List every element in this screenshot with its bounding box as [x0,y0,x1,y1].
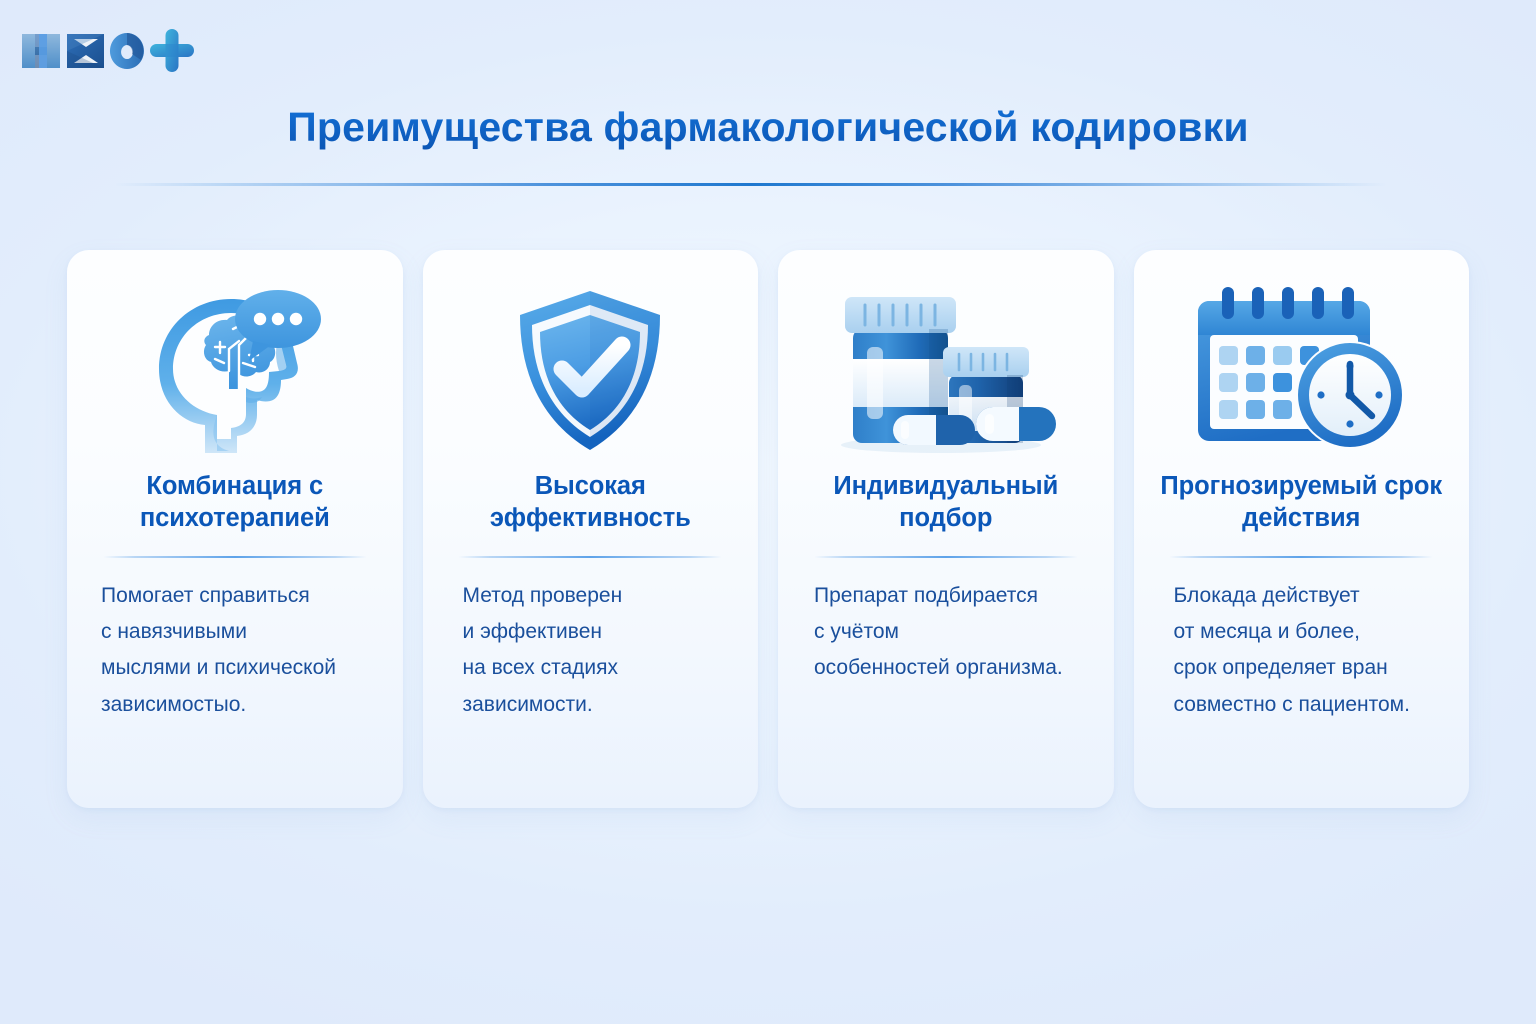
logo-letter-e [67,34,104,68]
card-title: Высокая эффективность [437,470,745,534]
calendar-clock-icon [1148,276,1456,466]
page-title-wrapper: Преимущества фармакологической кодировки [0,104,1536,151]
card-divider [814,556,1078,558]
clock-shape [1296,341,1404,449]
card-divider [103,556,367,558]
card-title: Прогнозируемый срок действия [1148,470,1456,534]
card-title: Комбинация с психотерапией [81,470,389,534]
benefit-card-effectiveness[interactable]: Высокая эффективность Метод проверен и э… [423,250,759,808]
logo-plus-icon [150,29,194,72]
card-body-text: Метод проверен и эффективен на всех стад… [437,578,745,722]
head-brain-speech-icon [81,276,389,466]
card-body-text: Блокада действует от месяца и более, сро… [1148,578,1456,722]
pill-bottles-capsules-icon [792,276,1100,466]
card-body-text: Помогает справиться с навязчивыми мыслям… [81,578,389,722]
page-title: Преимущества фармакологической кодировки [0,104,1536,151]
logo-letter-n [22,34,60,68]
card-body-text: Препарат подбирается с учётом особенност… [792,578,1100,686]
shield-check-icon [437,276,745,466]
card-divider [1169,556,1433,558]
card-title: Индивидуальный подбор [792,470,1100,534]
title-divider [115,183,1387,186]
card-divider [458,556,722,558]
logo-letter-o [110,33,144,69]
benefit-card-individual-selection[interactable]: Индивидуальный подбор Препарат подбирает… [778,250,1114,808]
benefit-card-predictable-duration[interactable]: Прогнозируемый срок действия Блокада дей… [1134,250,1470,808]
brand-logo [14,22,204,78]
capsule-right [976,407,1056,441]
benefit-card-combination[interactable]: Комбинация с психотерапией Помогает спра… [67,250,403,808]
capsule-left [893,415,975,445]
benefits-card-list: Комбинация с психотерапией Помогает спра… [67,250,1469,808]
